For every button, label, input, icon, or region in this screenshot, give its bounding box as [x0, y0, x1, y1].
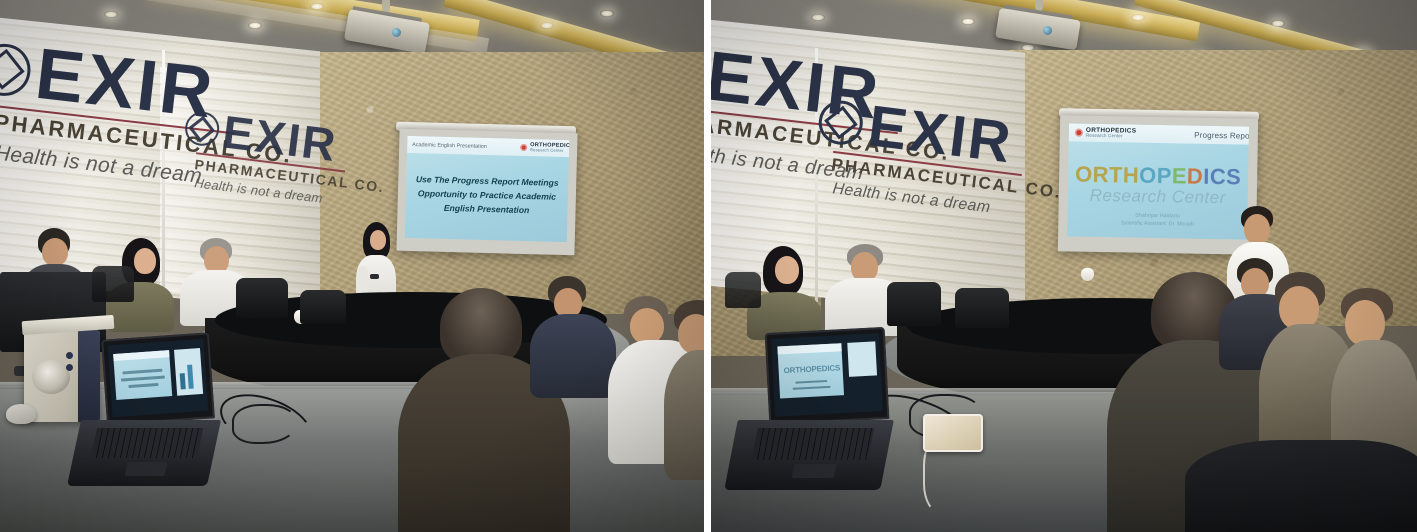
laptop-slide-line — [121, 376, 165, 382]
exir-emblem-icon-r2 — [816, 98, 865, 147]
attendee-face-2 — [134, 248, 156, 274]
slide-header-right: ORTHOPEDICS Research Center Progress Rep… — [1069, 123, 1249, 144]
laptop-slide-preview — [113, 350, 172, 400]
projector-lens-right — [1043, 26, 1052, 35]
big-title-seg-1: ORTH — [1075, 162, 1140, 188]
laptop-slide-line — [122, 369, 162, 375]
projector-body — [344, 9, 430, 54]
laptop-lid — [101, 332, 215, 425]
laptop-slide-bigtext: ORTHOPEDICS — [783, 363, 840, 375]
exir-emblem-icon-2 — [183, 110, 221, 148]
laptop-touchpad-right[interactable] — [792, 464, 837, 478]
orthopedics-logo-right: ORTHOPEDICS Research Center — [1075, 127, 1137, 139]
presenter-arm — [357, 266, 369, 296]
downlight — [1131, 14, 1145, 21]
laptop-lid-right: ORTHOPEDICS — [765, 327, 890, 425]
orthopedics-subtitle-right: Research Center — [1086, 134, 1136, 139]
slide-big-subtitle: Research Center — [1068, 185, 1248, 208]
laptop-touchpad[interactable] — [125, 462, 168, 476]
attendee-navy-suit — [530, 276, 616, 396]
orthopedics-subtitle: Research Center — [530, 148, 569, 153]
projected-slide: Academic English Presentation ORTHOPEDIC… — [405, 136, 570, 242]
laptop-slide-header-right — [777, 343, 841, 354]
orthopedics-dot-icon — [520, 144, 527, 151]
laptop-slide-line — [128, 383, 158, 388]
exir-wordmark-2: EXIR — [220, 110, 339, 166]
projection-screen: Academic English Presentation ORTHOPEDIC… — [396, 129, 577, 256]
laptop-notes-pane — [174, 348, 203, 396]
attendee-face-wc — [630, 308, 664, 344]
slide-header: Academic English Presentation ORTHOPEDIC… — [407, 136, 569, 157]
chair — [300, 290, 346, 324]
panel-divider — [704, 0, 711, 532]
paper-cup-right — [1081, 268, 1094, 281]
attendee-far-right — [664, 300, 704, 480]
downlight — [811, 14, 825, 21]
downlight — [961, 18, 975, 25]
orthopedics-logo-text: ORTHOPEDICS Research Center — [530, 143, 569, 154]
laptop-slide-line-r — [795, 380, 827, 384]
exir-emblem-icon — [0, 41, 33, 99]
attendee-navy-torso — [530, 314, 616, 398]
laptop-left[interactable] — [64, 336, 214, 496]
laptop-slide-line-r — [793, 386, 831, 390]
laptop-notes-chart — [180, 373, 186, 389]
chair-right — [887, 282, 941, 326]
slide-kicker: Academic English Presentation — [412, 142, 487, 150]
laptop-slide-preview-right: ORTHOPEDICS — [777, 343, 844, 398]
power-bank — [923, 414, 983, 452]
big-title-seg-2: OP — [1139, 163, 1172, 189]
downlight — [248, 22, 262, 29]
slide-progress-label: Progress Report — [1194, 130, 1249, 140]
big-title-seg-3: E — [1172, 163, 1188, 188]
laptop-right[interactable]: ORTHOPEDICS — [727, 330, 887, 500]
projector-lens — [392, 28, 401, 37]
big-title-seg-5: ICS — [1203, 164, 1241, 190]
attendee-face — [42, 238, 68, 266]
mouse[interactable] — [6, 404, 36, 424]
chair-right-3 — [725, 272, 761, 308]
attendee-face-fr — [678, 314, 704, 354]
slide-presenter-assistant: Scientific Assistant: Dr. Moradi — [1067, 219, 1247, 228]
orthopedics-dot-icon-right — [1075, 129, 1083, 137]
orthopedics-logo-text-right: ORTHOPEDICS Research Center — [1086, 127, 1137, 139]
attendee-face-hr — [775, 256, 799, 284]
downlight — [600, 10, 614, 17]
presenter-clicker — [370, 274, 379, 279]
chair-right-2 — [955, 288, 1009, 328]
downlight — [310, 3, 324, 10]
projected-slide-right: ORTHOPEDICS Research Center Progress Rep… — [1067, 123, 1249, 239]
attendee-dark-jacket-foreground — [1185, 440, 1417, 532]
big-title-seg-4: D — [1187, 164, 1204, 189]
downlight — [104, 11, 118, 18]
laptop-slide-header — [113, 350, 169, 361]
speaker-face — [1244, 214, 1270, 244]
chair — [92, 266, 134, 302]
presenter-face — [370, 230, 386, 250]
laptop-notes-chart-2 — [187, 365, 194, 389]
attendee-torso-fr — [664, 350, 704, 480]
downlight — [1271, 20, 1285, 27]
left-photo-panel: EXIR PHARMACEUTICAL CO. Health is not a … — [0, 0, 704, 532]
laptop-screen-right: ORTHOPEDICS — [771, 333, 883, 417]
orthopedics-logo: ORTHOPEDICS Research Center — [520, 142, 569, 153]
right-photo-panel: EXIR PHARMACEUTICAL CO. Health is not a … — [711, 0, 1417, 532]
slide-title: Use The Progress Report Meetings Opportu… — [405, 172, 568, 218]
laptop-keyboard[interactable] — [91, 428, 203, 458]
ceiling-projector — [340, 0, 450, 60]
chair — [236, 278, 288, 318]
downlight — [540, 22, 554, 29]
exir-wordmark-r2: EXIR — [865, 99, 1015, 170]
laptop-screen — [108, 339, 209, 418]
laptop-keyboard-right[interactable] — [752, 428, 874, 460]
photo-composite: EXIR PHARMACEUTICAL CO. Health is not a … — [0, 0, 1417, 532]
laptop-notes-pane-right — [847, 341, 877, 376]
